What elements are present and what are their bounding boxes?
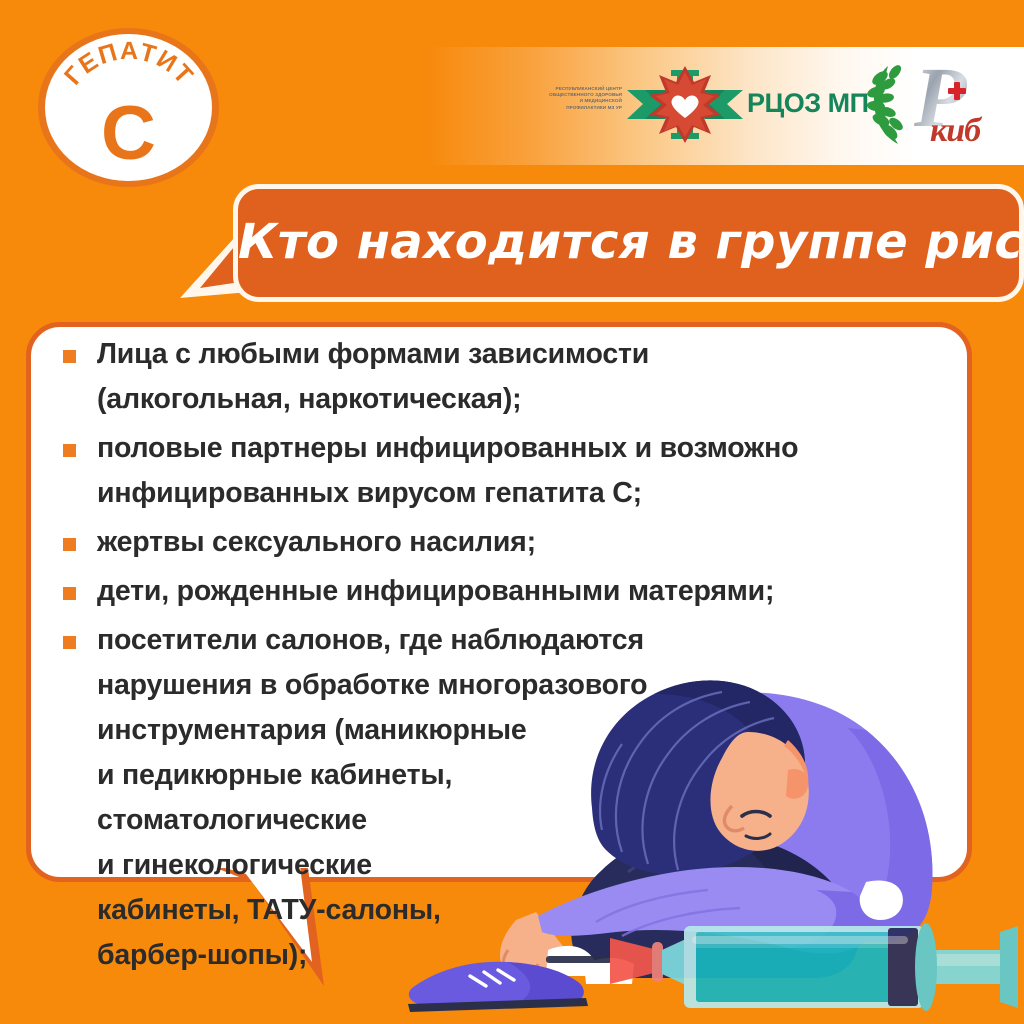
udmurt-star-heart-icon: [625, 62, 745, 147]
list-item: дети, рожденные инфицированными матерями…: [52, 569, 892, 614]
badge-letter-c: С: [38, 96, 219, 172]
list-item: Лица с любыми формами зависимости (алког…: [52, 332, 892, 422]
list-item: жертвы сексуального насилия;: [52, 520, 892, 565]
hepatitis-c-risk-groups-poster: ГЕПАТИТ С РЕСПУБЛИКАНСКИЙ ЦЕНТР ОБЩЕСТВЕ…: [0, 0, 1024, 1024]
rkib-logo: Р киб: [858, 52, 1010, 156]
illustration-seated-person-with-syringe: [396, 620, 1024, 1024]
rcozmp-logo: РЕСПУБЛИКАНСКИЙ ЦЕНТР ОБЩЕСТВЕННОГО ЗДОР…: [545, 62, 830, 147]
rcozmp-caption: РЕСПУБЛИКАНСКИЙ ЦЕНТР ОБЩЕСТВЕННОГО ЗДОР…: [545, 86, 622, 111]
rcozmp-name: РЦОЗ МП: [747, 88, 869, 118]
rkib-sub-label: киб: [930, 114, 980, 148]
list-item: половые партнеры инфицированных и возмож…: [52, 426, 892, 516]
hepatitis-c-badge: ГЕПАТИТ С: [38, 28, 219, 187]
headline-text: Кто находится в группе риска?: [238, 214, 1019, 270]
headline-speech-bubble: Кто находится в группе риска?: [176, 178, 1024, 314]
headline-bubble-body: Кто находится в группе риска?: [233, 184, 1024, 302]
